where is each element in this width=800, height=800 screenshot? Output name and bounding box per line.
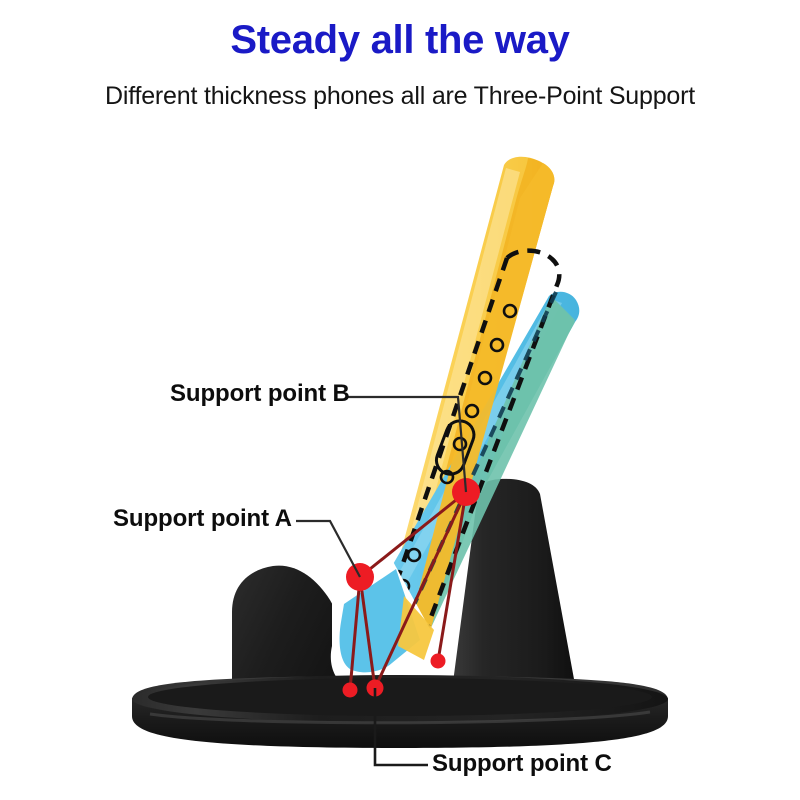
support-dot-c2 [343, 683, 358, 698]
callout-support-point-a: Support point A [113, 505, 292, 533]
stand-base-disc [132, 675, 668, 748]
support-dot-c3 [431, 654, 446, 669]
infographic-canvas: Steady all the way Different thickness p… [0, 0, 800, 800]
callout-support-point-c: Support point C [432, 750, 612, 778]
callout-support-point-b: Support point B [170, 380, 350, 408]
base-disc-inner [148, 678, 652, 716]
stand-diagram [0, 0, 800, 800]
